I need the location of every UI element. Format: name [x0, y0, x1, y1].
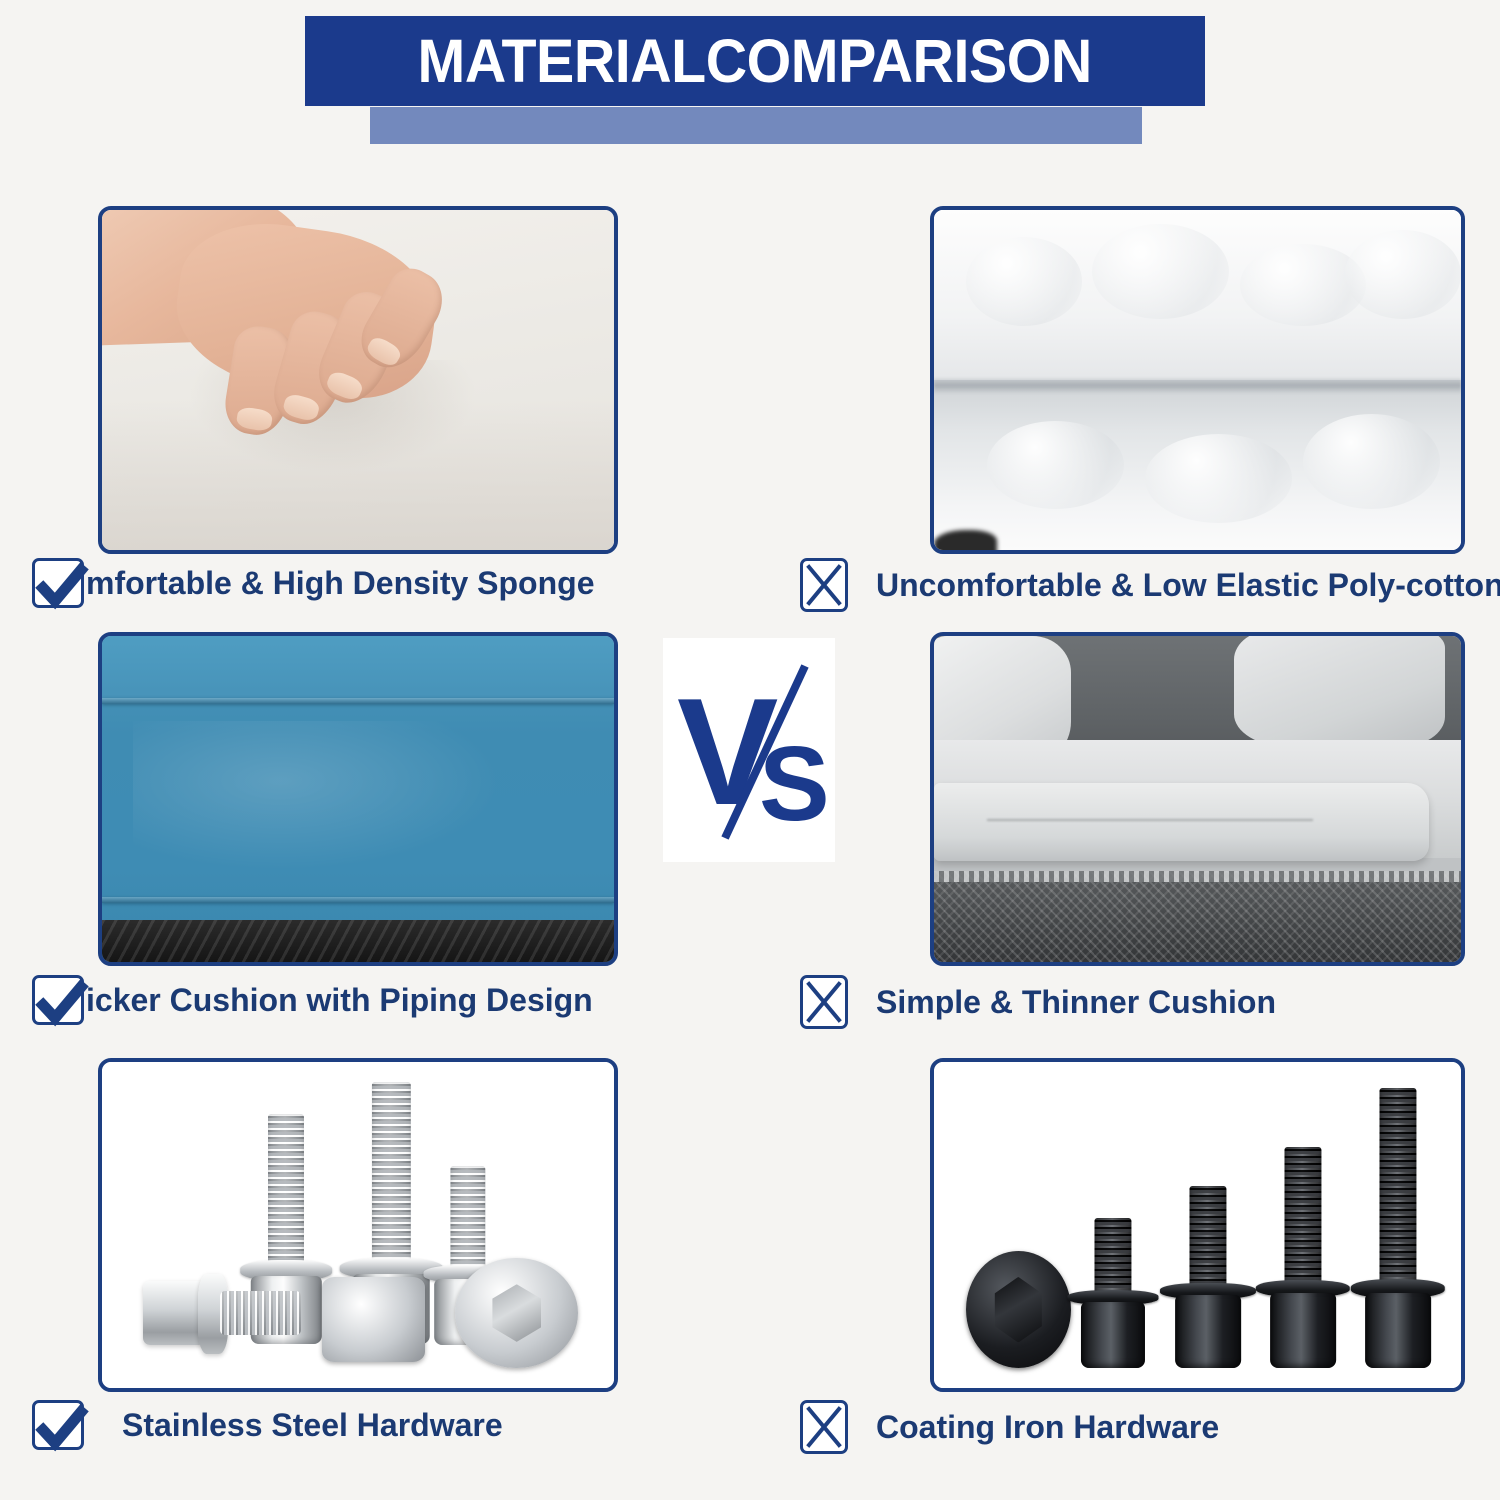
caption-poly-cotton: Uncomfortable & Low Elastic Poly-cotton: [800, 558, 1500, 612]
fiber-tuft: [1092, 224, 1229, 319]
wicker-base: [102, 920, 614, 962]
caption-stainless-hardware: Stainless Steel Hardware: [32, 1400, 503, 1450]
fiber-tuft: [1303, 414, 1440, 509]
versus-badge: V S: [663, 638, 835, 862]
page-title: MATERIALCOMPARISON: [418, 26, 1092, 96]
caption-label: mfortable & High Density Sponge: [86, 565, 594, 602]
bolt-thread: [1379, 1088, 1416, 1290]
check-box-icon: [32, 558, 84, 608]
batting-surface: [934, 210, 1461, 550]
cushion-crease: [987, 819, 1314, 821]
x-box-icon: [800, 558, 848, 612]
photo-thick-cushion-piping: [98, 632, 618, 966]
photo-poly-cotton-batting: [930, 206, 1465, 554]
page-header: MATERIALCOMPARISON: [0, 0, 1500, 160]
caption-label: Uncomfortable & Low Elastic Poly-cotton: [876, 567, 1500, 604]
bolt-thread: [1095, 1218, 1132, 1296]
photo-high-density-sponge: [98, 206, 618, 554]
bolt-head: [455, 1258, 578, 1369]
stainless-bolt-hex-face: [322, 1277, 424, 1362]
x-box-icon: [800, 1400, 848, 1454]
caption-label: Coating Iron Hardware: [876, 1409, 1219, 1446]
iron-bolt-standing: [1261, 1147, 1345, 1369]
caption-label: Simple & Thinner Cushion: [876, 984, 1276, 1021]
check-box-icon: [32, 1400, 84, 1450]
gray-sofa: [934, 636, 1461, 962]
caption-coating-iron-hardware: Coating Iron Hardware: [800, 1400, 1219, 1454]
photo-stainless-hardware: [98, 1058, 618, 1392]
bolt-head: [1175, 1295, 1241, 1368]
fiber-tuft: [987, 421, 1124, 509]
fingernail: [235, 405, 273, 432]
versus-letter-s: S: [759, 725, 830, 843]
caption-high-density-sponge: mfortable & High Density Sponge: [32, 558, 594, 608]
bolt-thread: [1284, 1147, 1321, 1289]
caption-label: Stainless Steel Hardware: [122, 1407, 503, 1444]
photo-coating-iron-hardware: [930, 1058, 1465, 1392]
bolt-thread: [268, 1114, 304, 1269]
iron-bolt-standing: [1071, 1218, 1155, 1368]
bolt-thread: [372, 1082, 410, 1269]
bolt-thread: [450, 1166, 485, 1272]
caption-label: icker Cushion with Piping Design: [86, 982, 593, 1019]
bolt-head: [322, 1277, 424, 1362]
fabric-sheen: [133, 721, 502, 871]
piping-seam-top: [102, 698, 614, 704]
fiber-tuft: [966, 237, 1082, 325]
bolt-head: [1270, 1293, 1336, 1368]
bolt-head: [1081, 1302, 1145, 1368]
x-box-icon: [800, 975, 848, 1029]
seat-cushion-front-edge: [934, 783, 1429, 861]
caption-thick-cushion: icker Cushion with Piping Design: [32, 975, 593, 1025]
photo-thin-cushion: [930, 632, 1465, 966]
bolt-head: [966, 1251, 1071, 1368]
rattan-top-trim: [934, 871, 1461, 882]
iron-bolt-standing: [1166, 1186, 1250, 1369]
hand-pressing-foam: [98, 206, 450, 434]
header-banner: MATERIALCOMPARISON: [305, 16, 1205, 106]
iron-bolt-hex-face: [966, 1251, 1071, 1368]
caption-thin-cushion: Simple & Thinner Cushion: [800, 975, 1276, 1029]
bolt-thread: [1189, 1186, 1226, 1290]
bolt-head: [143, 1281, 206, 1346]
teal-cushion: [102, 636, 614, 962]
piping-seam-bottom: [102, 897, 614, 903]
check-box-icon: [32, 975, 84, 1025]
fiber-tuft: [1345, 230, 1461, 318]
hex-socket-icon: [488, 1284, 545, 1342]
iron-bolt-standing: [1356, 1088, 1440, 1368]
bolt-backdrop: [102, 1062, 614, 1388]
fiber-tuft: [1145, 434, 1293, 522]
batting-seam: [934, 377, 1461, 394]
cushion-top-panel: [102, 636, 614, 698]
rattan-base: [934, 871, 1461, 962]
throw-pillow: [1234, 632, 1445, 747]
bolt-thread: [220, 1291, 301, 1335]
batting-dark-corner: [934, 530, 997, 554]
hex-socket-icon: [991, 1277, 1046, 1343]
stainless-bolt-lying: [143, 1258, 327, 1362]
bolt-backdrop: [934, 1062, 1461, 1388]
stainless-bolt-hex-socket: [440, 1258, 594, 1369]
bolt-head: [1365, 1293, 1431, 1369]
fingernail: [281, 392, 321, 423]
header-accent-bar: [370, 107, 1142, 144]
